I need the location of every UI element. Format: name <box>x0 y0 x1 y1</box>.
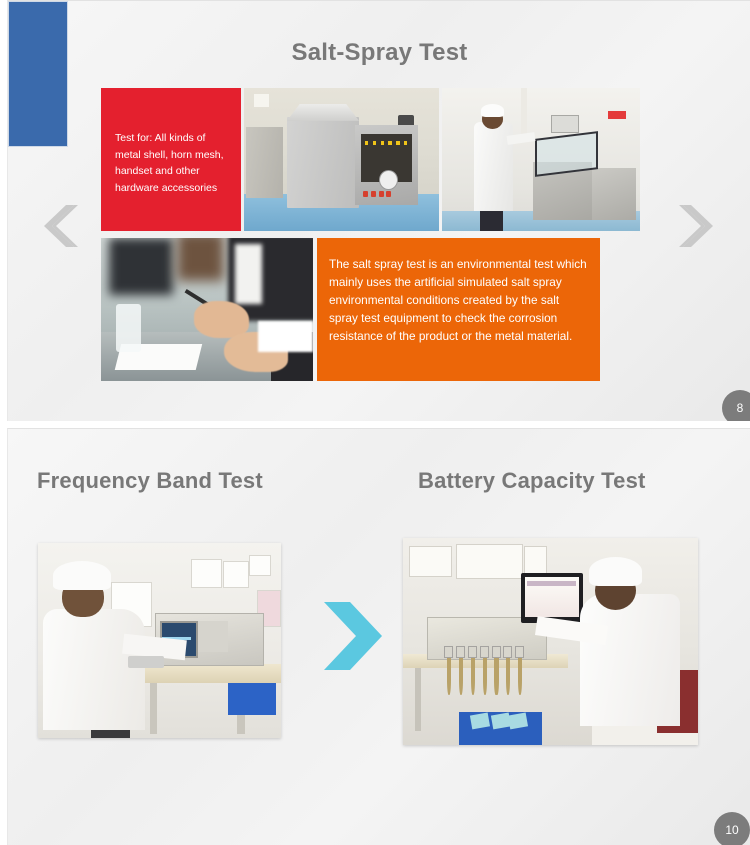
operator-loading-chamber-photo <box>442 88 640 231</box>
salt-spray-description-text: The salt spray test is an environmental … <box>329 255 588 345</box>
photo-canvas <box>403 538 698 745</box>
photo-canvas <box>442 88 640 231</box>
chevron-left-icon[interactable] <box>44 203 78 249</box>
salt-spray-title: Salt-Spray Test <box>8 39 750 67</box>
salt-spray-chamber-photo <box>244 88 439 231</box>
battery-capacity-test-title: Battery Capacity Test <box>418 468 646 494</box>
test-scope-text: Test for: All kinds of metal shell, horn… <box>115 130 227 196</box>
chevron-right-icon <box>316 596 388 676</box>
photo-canvas <box>101 238 313 381</box>
slide-viewer: Salt-Spray Test Test for: All kinds of m… <box>0 0 750 845</box>
frequency-band-test-title: Frequency Band Test <box>37 468 263 494</box>
slide-salt-spray[interactable]: Salt-Spray Test Test for: All kinds of m… <box>7 0 750 421</box>
test-scope-red-panel: Test for: All kinds of metal shell, horn… <box>101 88 241 231</box>
frequency-band-test-photo <box>38 543 281 738</box>
chevron-right-icon[interactable] <box>679 203 713 249</box>
photo-canvas <box>244 88 439 231</box>
photo-canvas <box>38 543 281 738</box>
meeting-notes-photo <box>101 238 313 381</box>
page-number-badge: 10 <box>714 812 750 845</box>
blue-accent-block <box>8 1 68 147</box>
page-number-badge: 8 <box>722 390 750 421</box>
salt-spray-description-panel: The salt spray test is an environmental … <box>317 238 600 381</box>
battery-capacity-test-photo <box>403 538 698 745</box>
